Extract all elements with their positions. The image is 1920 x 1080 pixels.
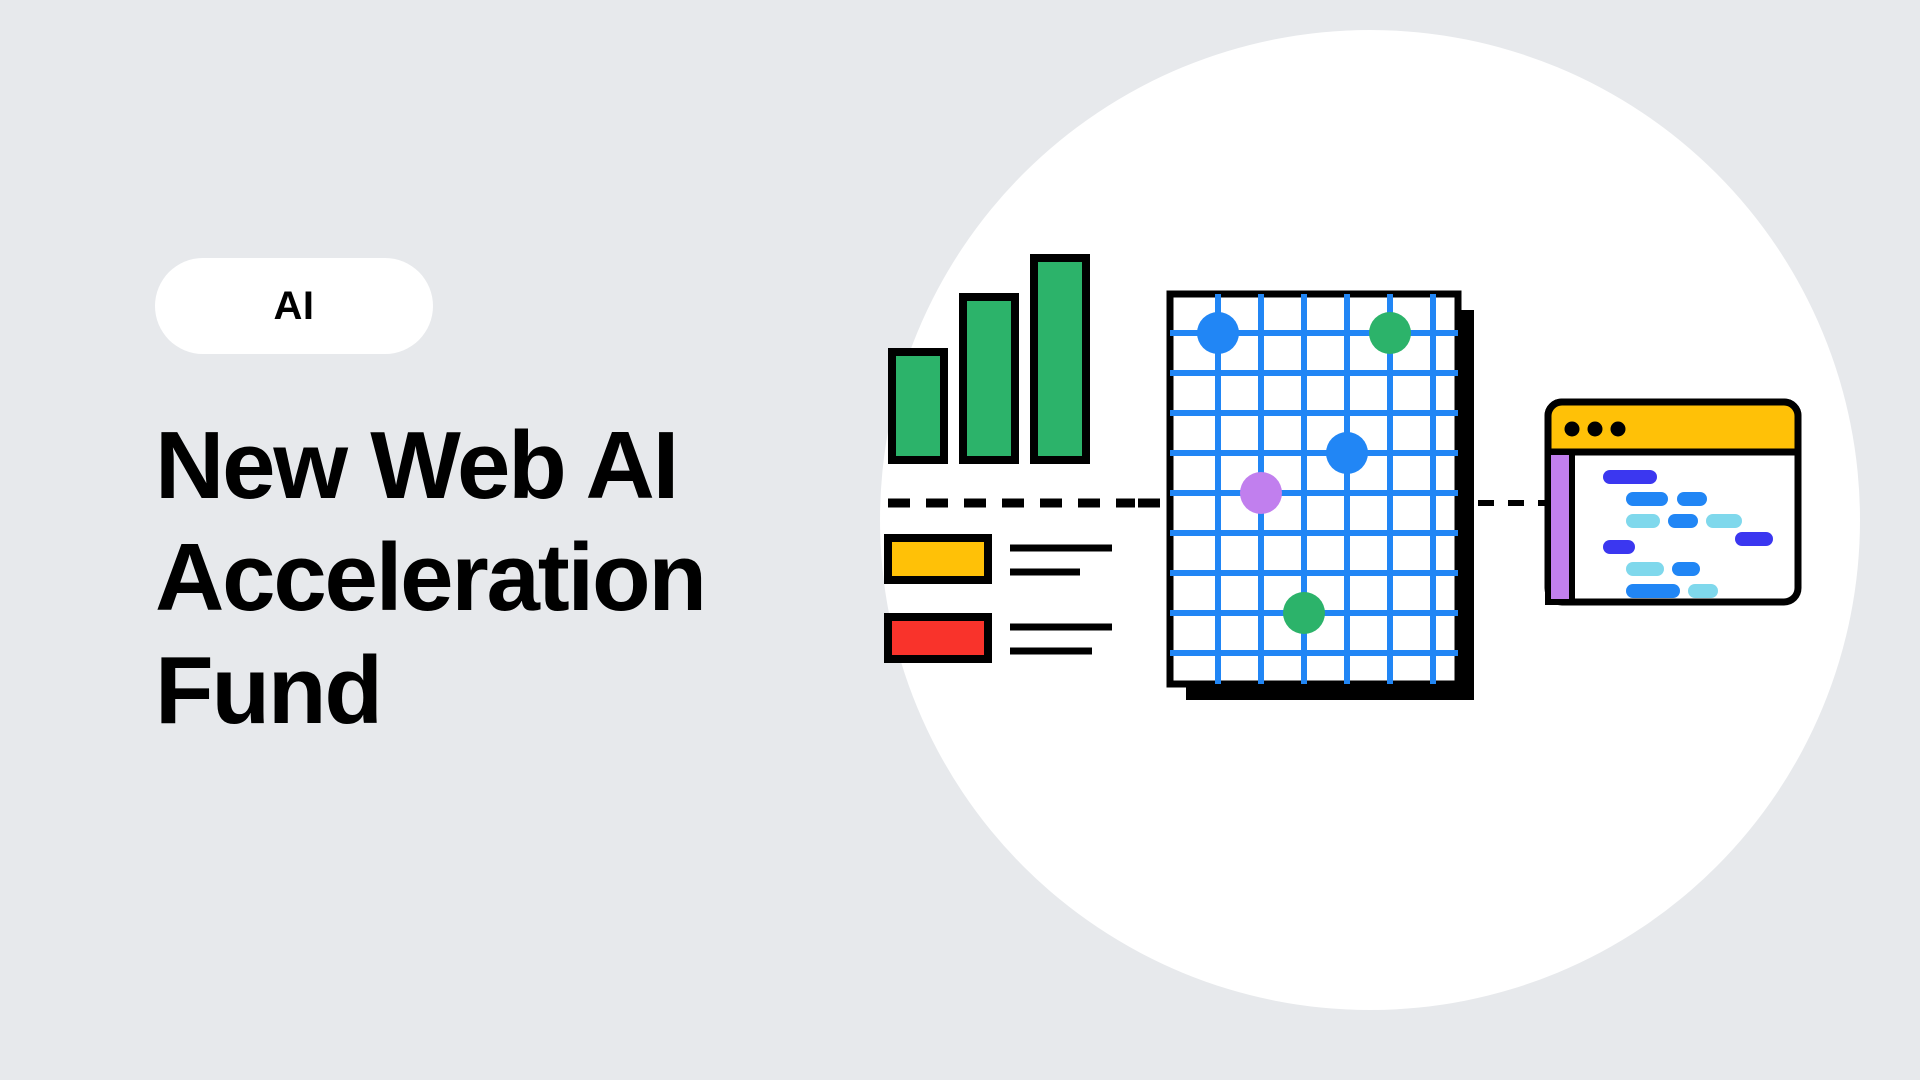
- code-pill: [1603, 470, 1657, 484]
- bar-1: [892, 352, 944, 460]
- window-dot-icon[interactable]: [1611, 422, 1626, 437]
- headline-line-1: New Web AI: [155, 410, 855, 522]
- code-window-sidebar: [1548, 452, 1572, 602]
- code-pill: [1668, 514, 1698, 528]
- legend-row-yellow: [888, 538, 1112, 580]
- code-pill: [1706, 514, 1742, 528]
- illustration-stage: [880, 30, 1900, 1050]
- category-badge-label: AI: [274, 286, 315, 326]
- scatter-grid: [1170, 294, 1474, 700]
- scatter-point-blue-1: [1197, 312, 1239, 354]
- code-pill: [1626, 492, 1668, 506]
- legend-row-red: [888, 617, 1112, 659]
- code-pill: [1626, 514, 1660, 528]
- legend-swatch-red: [888, 617, 988, 659]
- page-title: New Web AI Acceleration Fund: [155, 410, 855, 747]
- code-pill: [1672, 562, 1700, 576]
- category-badge[interactable]: AI: [155, 258, 433, 354]
- illustration-graphics: [880, 30, 1900, 1050]
- bar-chart: [892, 258, 1086, 460]
- legend-swatch-yellow: [888, 538, 988, 580]
- scatter-point-green-1: [1369, 312, 1411, 354]
- code-window-titlebar: [1548, 402, 1798, 452]
- window-dot-icon[interactable]: [1565, 422, 1580, 437]
- code-pill: [1735, 532, 1773, 546]
- scatter-point-green-2: [1283, 592, 1325, 634]
- promo-banner: AI New Web AI Acceleration Fund: [0, 0, 1920, 1080]
- text-column: AI New Web AI Acceleration Fund: [155, 258, 855, 747]
- bar-2: [963, 297, 1015, 460]
- scatter-point-blue-2: [1326, 432, 1368, 474]
- scatter-point-purple-1: [1240, 472, 1282, 514]
- headline-line-2: Acceleration: [155, 522, 855, 634]
- code-pill: [1626, 584, 1680, 598]
- code-pill: [1626, 562, 1664, 576]
- bar-3: [1034, 258, 1086, 460]
- code-pill: [1688, 584, 1718, 598]
- code-pill: [1603, 540, 1635, 554]
- headline-line-3: Fund: [155, 635, 855, 747]
- window-dot-icon[interactable]: [1588, 422, 1603, 437]
- code-pill: [1677, 492, 1707, 506]
- code-window: [1548, 402, 1798, 602]
